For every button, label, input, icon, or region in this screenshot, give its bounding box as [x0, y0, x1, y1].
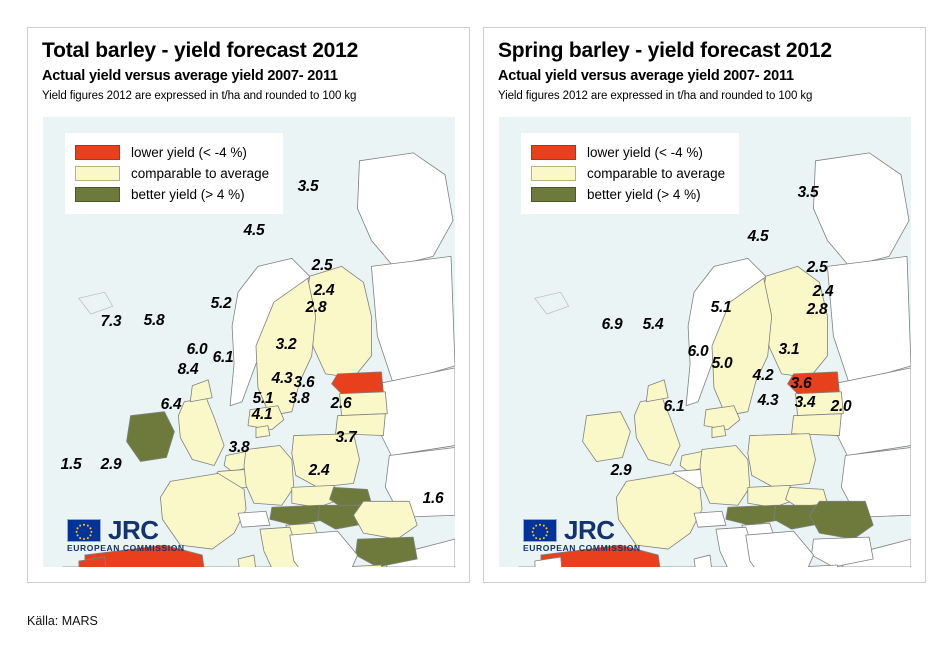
- legend-swatch-lower-icon: [531, 145, 576, 160]
- map-value-romania: 2.6: [331, 395, 352, 413]
- page-title-left: Total barley - yield forecast 2012: [42, 38, 459, 64]
- map-value-germany: 5.0: [712, 355, 733, 373]
- legend-item-better: better yield (> 4 %): [531, 184, 725, 205]
- map-value-latvia: 2.4: [813, 283, 834, 301]
- map-value-spain: 2.9: [101, 456, 122, 474]
- map-canvas-right[interactable]: .b2{stroke:#808080;stroke-width:0.8;stro…: [498, 116, 912, 568]
- map-value-finland: 3.5: [798, 184, 819, 202]
- map-value-france: 6.4: [161, 396, 182, 414]
- legend-swatch-average-icon: [75, 166, 120, 181]
- jrc-wordmark: JRC: [564, 518, 615, 542]
- panel-header-left: Total barley - yield forecast 2012 Actua…: [42, 38, 459, 104]
- legend-item-lower: lower yield (< -4 %): [75, 142, 269, 163]
- map-value-sweden: 4.5: [244, 222, 265, 240]
- jrc-subtitle: EUROPEAN COMMISSION: [67, 543, 185, 553]
- map-value-hungary: 3.4: [795, 394, 816, 412]
- figure-root: Total barley - yield forecast 2012 Actua…: [0, 0, 948, 648]
- jrc-subtitle: EUROPEAN COMMISSION: [523, 543, 641, 553]
- map-value-germany: 6.1: [213, 349, 234, 367]
- map-value-poland: 3.2: [276, 336, 297, 354]
- source-caption: Källa: MARS: [27, 614, 98, 628]
- eu-stars-icon: [68, 520, 100, 541]
- map-value-spain: 2.9: [611, 462, 632, 480]
- map-value-ireland: 6.9: [602, 316, 623, 334]
- jrc-logo-left: JRC EUROPEAN COMMISSION: [67, 518, 185, 553]
- legend-swatch-average-icon: [531, 166, 576, 181]
- legend-label-average: comparable to average: [587, 166, 725, 181]
- page-title-right: Spring barley - yield forecast 2012: [498, 38, 915, 64]
- map-value-italy: 3.8: [229, 439, 250, 457]
- map-value-belgium: 8.4: [178, 361, 199, 379]
- panel-header-right: Spring barley - yield forecast 2012 Actu…: [498, 38, 915, 104]
- legend-label-better: better yield (> 4 %): [587, 187, 701, 202]
- map-value-lithuania: 2.8: [807, 301, 828, 319]
- legend-item-average: comparable to average: [75, 163, 269, 184]
- map-value-netherlands: 6.0: [187, 341, 208, 359]
- map-value-slovenia: 4.1: [252, 406, 273, 424]
- map-value-finland: 3.5: [298, 178, 319, 196]
- map-value-ireland: 7.3: [101, 313, 122, 331]
- map-value-bulgaria: 3.7: [336, 429, 357, 447]
- eu-flag-icon: [67, 519, 101, 542]
- map-value-france: 6.1: [664, 398, 685, 416]
- map-value-estonia: 2.5: [312, 257, 333, 275]
- panel-total-barley: Total barley - yield forecast 2012 Actua…: [27, 27, 470, 583]
- legend-right: lower yield (< -4 %) comparable to avera…: [521, 133, 739, 214]
- legend-swatch-lower-icon: [75, 145, 120, 160]
- map-value-cyprus: 1.6: [423, 490, 444, 508]
- legend-item-average: comparable to average: [531, 163, 725, 184]
- page-subtitle-left: Actual yield versus average yield 2007- …: [42, 66, 459, 86]
- map-value-czech-republic: 4.2: [753, 367, 774, 385]
- map-canvas-left[interactable]: .b{stroke:#808080;stroke-width:0.8;strok…: [42, 116, 456, 568]
- map-value-denmark: 5.1: [711, 299, 732, 317]
- legend-item-lower: lower yield (< -4 %): [531, 142, 725, 163]
- jrc-wordmark: JRC: [108, 518, 159, 542]
- map-value-estonia: 2.5: [807, 259, 828, 277]
- page-note-right: Yield figures 2012 are expressed in t/ha…: [498, 88, 915, 104]
- legend-label-average: comparable to average: [131, 166, 269, 181]
- map-value-czech-republic: 4.3: [272, 370, 293, 388]
- map-value-romania: 2.0: [831, 398, 852, 416]
- page-note-left: Yield figures 2012 are expressed in t/ha…: [42, 88, 459, 104]
- legend-swatch-better-icon: [75, 187, 120, 202]
- map-value-lithuania: 2.8: [306, 299, 327, 317]
- jrc-logo-right: JRC EUROPEAN COMMISSION: [523, 518, 641, 553]
- legend-left: lower yield (< -4 %) comparable to avera…: [65, 133, 283, 214]
- map-value-slovakia: 3.6: [791, 375, 812, 393]
- panel-spring-barley: Spring barley - yield forecast 2012 Actu…: [483, 27, 926, 583]
- legend-label-lower: lower yield (< -4 %): [131, 145, 247, 160]
- legend-label-better: better yield (> 4 %): [131, 187, 245, 202]
- map-value-united-kingdom: 5.4: [643, 316, 664, 334]
- map-value-netherlands: 6.0: [688, 343, 709, 361]
- legend-swatch-better-icon: [531, 187, 576, 202]
- eu-flag-icon: [523, 519, 557, 542]
- page-subtitle-right: Actual yield versus average yield 2007- …: [498, 66, 915, 86]
- map-value-poland: 3.1: [779, 341, 800, 359]
- legend-item-better: better yield (> 4 %): [75, 184, 269, 205]
- legend-label-lower: lower yield (< -4 %): [587, 145, 703, 160]
- map-value-hungary: 3.8: [289, 390, 310, 408]
- map-value-portugal: 1.5: [61, 456, 82, 474]
- map-value-greece: 2.4: [309, 462, 330, 480]
- map-value-latvia: 2.4: [314, 282, 335, 300]
- map-value-denmark: 5.2: [211, 295, 232, 313]
- map-value-united-kingdom: 5.8: [144, 312, 165, 330]
- map-value-sweden: 4.5: [748, 228, 769, 246]
- map-value-austria: 4.3: [758, 392, 779, 410]
- eu-stars-icon: [524, 520, 556, 541]
